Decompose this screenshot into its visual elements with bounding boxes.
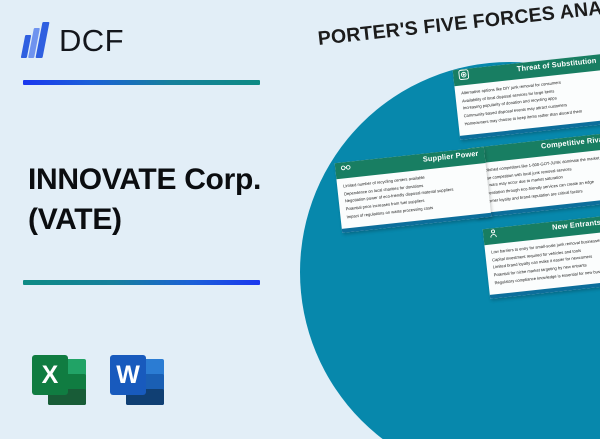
poster-title: PORTER'S FIVE FORCES ANALYSIS [317,0,600,51]
person-add-icon [484,224,502,242]
download-formats: X W [32,355,164,409]
force-card-new-entrants[interactable]: New Entrants Threat Low barriers to entr… [483,213,600,298]
target-circle-icon [454,65,472,83]
page-root: DCF INNOVATE Corp. (VATE) X W PORTER'S F… [0,0,600,439]
excel-file-icon[interactable]: X [32,355,86,409]
brand-name: DCF [59,25,124,56]
excel-letter: X [32,355,68,395]
bar-chart-logo-icon [22,22,52,58]
link-chain-icon [336,158,354,176]
page-title: INNOVATE Corp. (VATE) [28,160,298,239]
force-card-substitution[interactable]: Threat of Substitution Alternative optio… [453,54,600,139]
word-letter: W [110,355,146,395]
brand[interactable]: DCF [22,22,124,58]
divider-top [23,80,260,85]
card-title: Threat of Substitution [516,56,597,74]
divider-bottom [23,280,260,285]
word-file-icon[interactable]: W [110,355,164,409]
